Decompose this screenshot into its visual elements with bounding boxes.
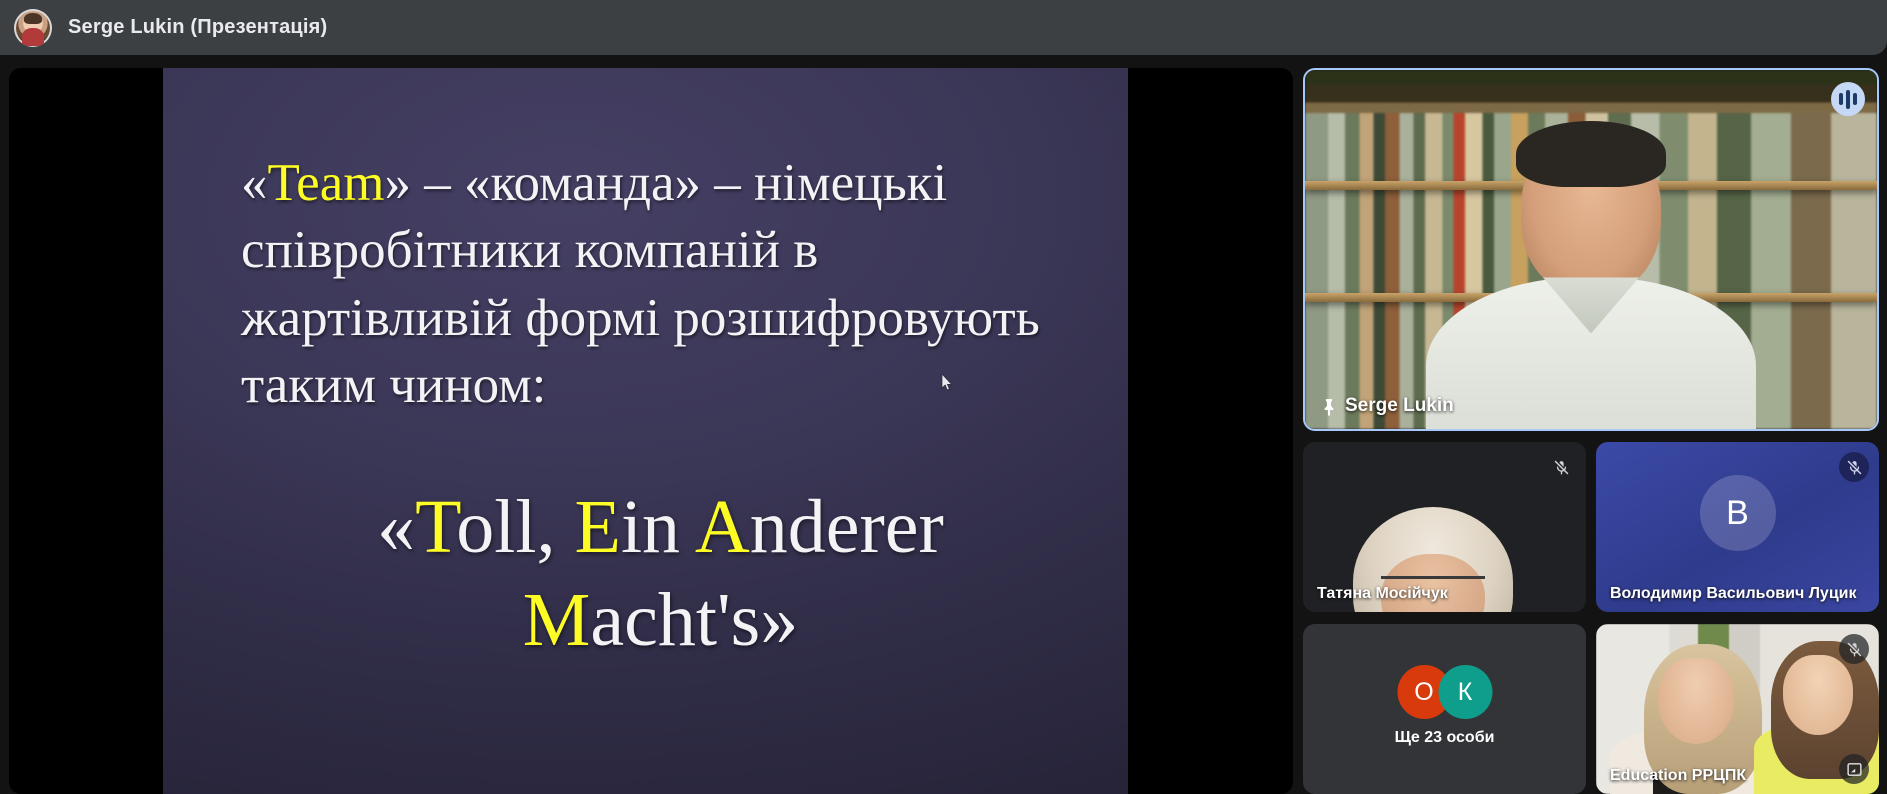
slide-paragraph-highlight: Team [268,154,385,212]
participant-name: Education РРЦПК [1610,767,1746,785]
participant-name: Татяна Мосійчук [1317,585,1448,603]
slide-quote-m-rest: acht's [590,578,760,662]
participant-video-figure [1421,127,1761,431]
mic-off-icon[interactable] [1839,452,1869,482]
participant-name: Володимир Васильович Луцик [1610,585,1857,603]
slide-quote-letter-m: M [523,578,591,662]
expand-tile-icon[interactable] [1839,754,1869,784]
avatar-initial: В [1700,475,1776,551]
slide-quote: «Toll, Ein Anderer Macht's» [241,481,1080,666]
speaking-audio-icon[interactable] [1831,82,1865,116]
slide-quote-t-rest: oll, [456,485,574,569]
presenter-title: Serge Lukin (Презентація) [68,16,327,39]
presentation-slide: «Team» – «команда» – німецькі співробітн… [163,68,1128,794]
participant-tile-education-rrcpk[interactable]: Education РРЦПК [1596,624,1879,794]
slide-quote-close-quote: » [760,578,798,662]
slide-quote-e-rest: in [621,485,695,569]
mic-off-icon[interactable] [1546,452,1576,482]
participant-tile-tatyana-mosiychuk[interactable]: Татяна Мосійчук [1303,442,1586,612]
presenter-avatar-icon [14,9,52,47]
participant-face-1 [1658,658,1734,744]
participant-tile-more-people[interactable]: О К Ще 23 особи [1303,624,1586,794]
slide-paragraph-open-quote: « [241,154,268,212]
slide-quote-open-quote: « [377,485,415,569]
mic-off-icon[interactable] [1839,634,1869,664]
participant-face-2 [1783,655,1853,735]
slide-paragraph: «Team» – «команда» – німецькі співробітн… [241,150,1080,419]
slide-quote-letter-e: E [575,485,621,569]
presentation-stage[interactable]: «Team» – «команда» – німецькі співробітн… [9,68,1293,794]
pin-icon [1321,398,1337,416]
participant-tile-serge-lukin[interactable]: Serge Lukin [1303,68,1879,431]
mouse-cursor-icon [941,374,953,392]
overflow-avatars: О К [1397,665,1492,719]
overflow-count-label: Ще 23 особи [1303,729,1586,747]
presentation-top-bar: Serge Lukin (Презентація) [0,0,1887,55]
participant-tile-volodymyr-lutsyk[interactable]: В Володимир Васильович Луцик [1596,442,1879,612]
slide-quote-a-rest: nderer [750,485,944,569]
participant-rail: Serge Lukin Татяна Мосійчук В [1303,68,1879,794]
participant-name: Serge Lukin [1345,395,1454,417]
slide-quote-letter-t: T [415,485,456,569]
overflow-avatar-2: К [1438,665,1492,719]
slide-quote-letter-a: A [695,485,750,569]
